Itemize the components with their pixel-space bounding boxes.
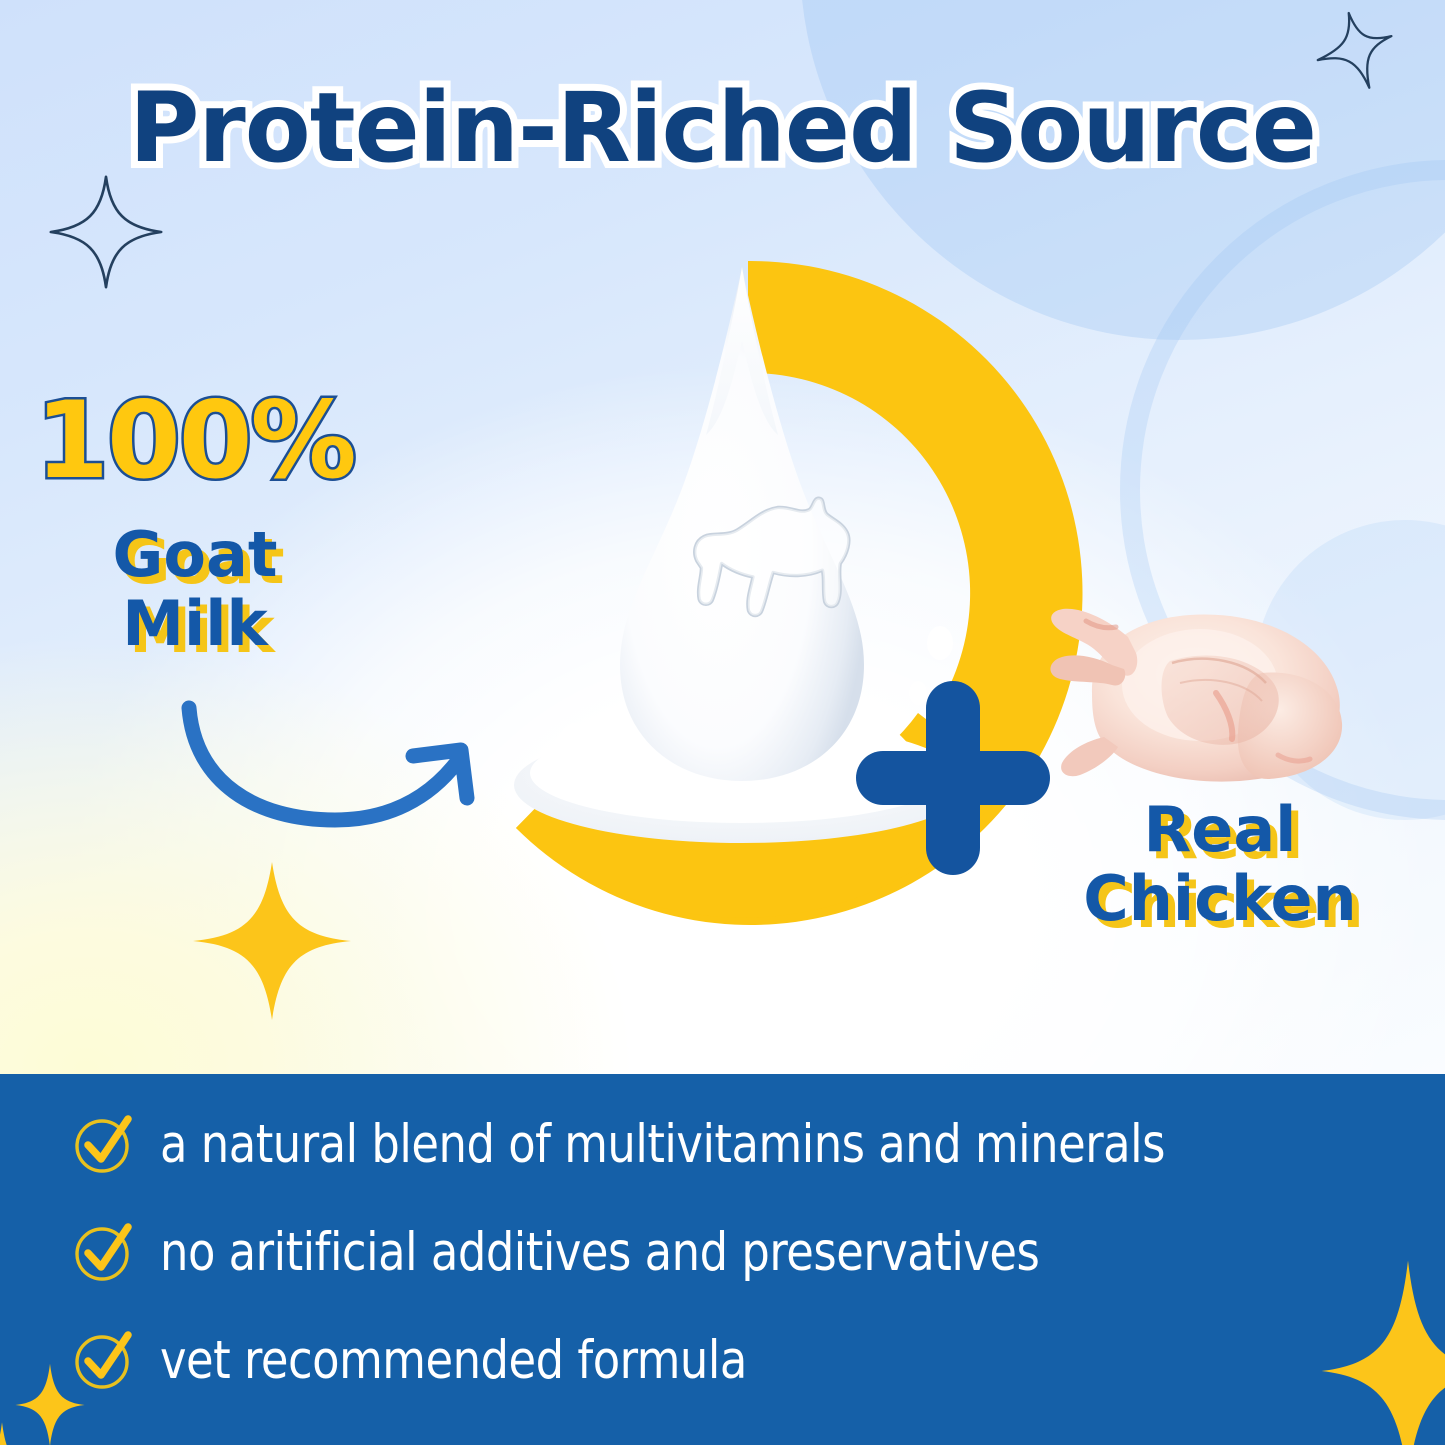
check-circle-icon (72, 1329, 134, 1391)
right-claim-block: Real Chicken (1000, 795, 1440, 934)
list-item-label: vet recommended formula (160, 1334, 747, 1387)
check-circle-icon (72, 1113, 134, 1175)
percent-label: 100% (20, 388, 370, 494)
benefits-banner: a natural blend of multivitamins and min… (0, 1074, 1445, 1445)
curved-arrow-icon (175, 690, 495, 850)
real-chicken-line-2: Chicken (1000, 864, 1440, 933)
list-item-label: no aritificial additives and preservativ… (160, 1226, 1039, 1279)
real-chicken-line-1: Real (1000, 795, 1440, 864)
list-item: vet recommended formula (72, 1314, 1405, 1406)
product-infographic: Protein-Riched Source (0, 0, 1445, 1445)
list-item-label: a natural blend of multivitamins and min… (160, 1118, 1165, 1171)
goat-milk-line-2: Milk (20, 589, 370, 658)
left-claim-block: 100% Goat Milk (20, 388, 370, 659)
page-title: Protein-Riched Source (0, 72, 1445, 184)
check-circle-icon (72, 1221, 134, 1283)
goat-milk-label: Goat Milk (20, 520, 370, 659)
list-item: no aritificial additives and preservativ… (72, 1206, 1405, 1298)
raw-chicken-image (1020, 565, 1370, 815)
list-item: a natural blend of multivitamins and min… (72, 1098, 1405, 1190)
sparkle-solid-icon (0, 1420, 50, 1445)
goat-milk-line-1: Goat (20, 520, 370, 589)
benefits-list: a natural blend of multivitamins and min… (72, 1098, 1405, 1422)
